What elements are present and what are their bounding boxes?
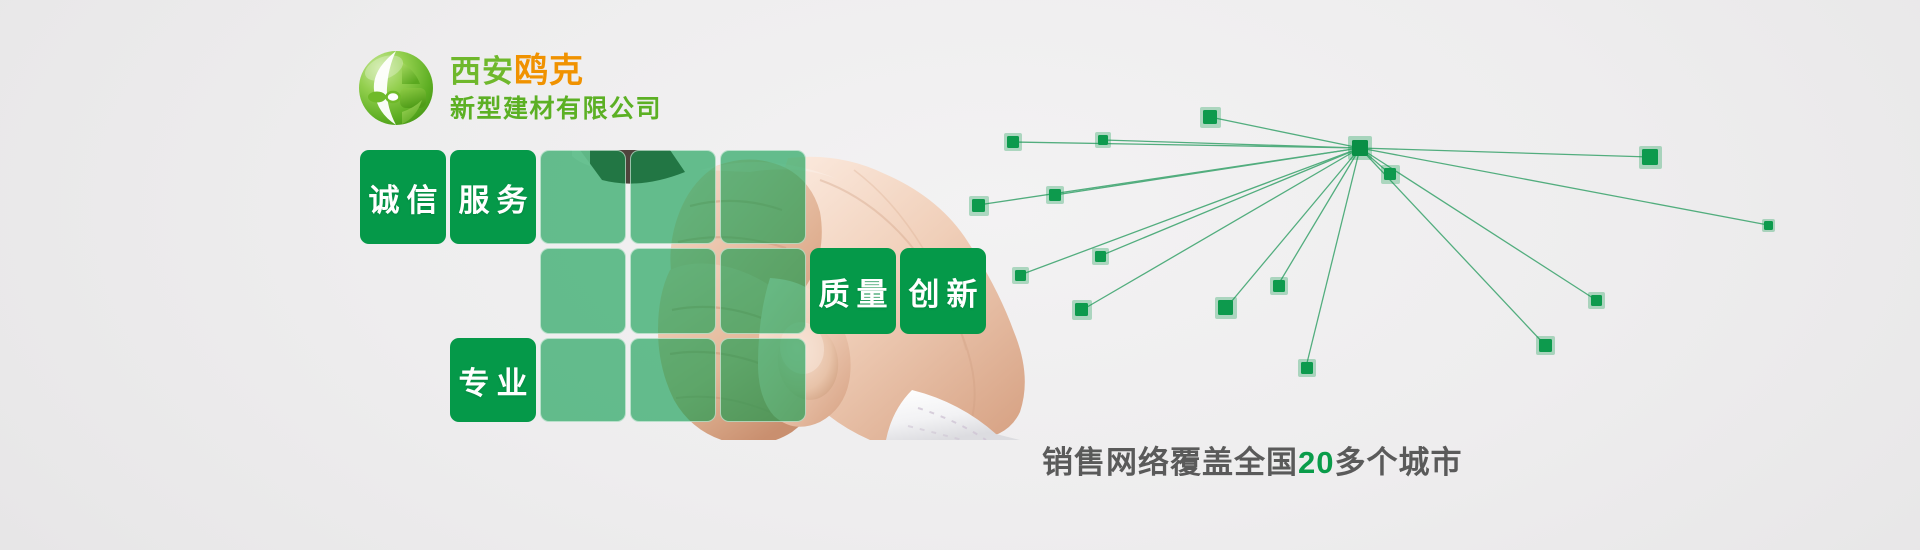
tile-label-fuwu: 服务 <box>450 150 536 244</box>
tile-r2c4[interactable] <box>720 338 806 422</box>
value-tile-grid: 诚信 服务 质量 创新 专业 <box>360 150 1120 422</box>
promo-banner: 诚信 服务 质量 创新 专业 <box>0 0 1920 550</box>
tagline-prefix: 销售网络覆盖全国 <box>1042 445 1298 480</box>
tile-r2c3[interactable] <box>630 338 716 422</box>
logo-brand: 鸥克 <box>514 52 584 90</box>
company-logo[interactable]: 西安鸥克 新型建材有限公司 <box>356 48 662 128</box>
sales-network-tagline: 销售网络覆盖全国20多个城市 <box>1042 437 1462 482</box>
logo-city: 西安 <box>450 54 514 89</box>
tile-label-chuangxin: 创新 <box>900 248 986 334</box>
tile-r0c2[interactable] <box>540 150 626 244</box>
tile-zhiliang[interactable]: 质量 <box>810 248 896 334</box>
tile-r0c3[interactable] <box>630 150 716 244</box>
logo-text-block: 西安鸥克 新型建材有限公司 <box>450 54 662 122</box>
green-globe-logo-icon <box>356 48 436 128</box>
tile-label-zhuanye: 专业 <box>450 338 536 422</box>
tile-zhuanye[interactable]: 专业 <box>450 338 536 422</box>
tile-fuwu[interactable]: 服务 <box>450 150 536 244</box>
tile-r1c2[interactable] <box>540 248 626 334</box>
logo-company-name: 新型建材有限公司 <box>450 97 662 122</box>
map-hub-node <box>1352 140 1368 156</box>
tagline-suffix: 多个城市 <box>1334 445 1462 480</box>
tile-label-zhiliang: 质量 <box>810 248 896 334</box>
tile-chuangxin[interactable]: 创新 <box>900 248 986 334</box>
tile-r1c4[interactable] <box>720 248 806 334</box>
tile-label-chengxin: 诚信 <box>360 150 446 244</box>
tagline-highlight-number: 20 <box>1298 445 1334 480</box>
tile-r0c4[interactable] <box>720 150 806 244</box>
tile-chengxin[interactable]: 诚信 <box>360 150 446 244</box>
tile-r1c3[interactable] <box>630 248 716 334</box>
logo-title-line: 西安鸥克 <box>450 54 662 88</box>
tile-r2c2[interactable] <box>540 338 626 422</box>
